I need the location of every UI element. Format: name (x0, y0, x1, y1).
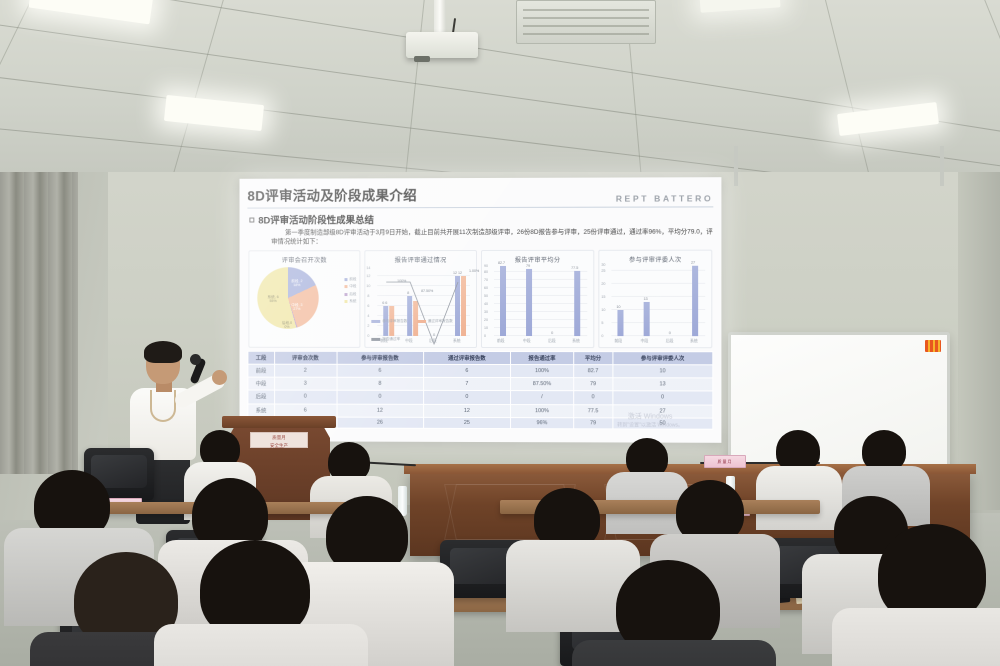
company-logo: REPT BATTERO (616, 193, 714, 203)
bar-avg-3 (574, 270, 580, 335)
x-tick: 前段 (614, 339, 622, 344)
legend-item-0: 前段 (344, 277, 356, 282)
col-header-5: 平均分 (574, 351, 613, 364)
y-tick: 5 (601, 321, 603, 325)
cell: 87.50% (510, 378, 573, 391)
x-tick: 后段 (666, 339, 674, 344)
chart-card-pie: 评审会召开次数 前段, 218% 中段, 327% 后段,00% 系统, 655… (248, 250, 360, 348)
title-divider (247, 206, 713, 208)
pie-slice-label-3: 系统, 655% (261, 295, 285, 304)
cell: 6 (337, 364, 424, 377)
presentation-slide: 8D评审活动及阶段成果介绍 REPT BATTERO 8D评审活动阶段性成果总结… (240, 177, 722, 443)
whiteboard (728, 332, 950, 480)
y-tick: 60 (484, 286, 488, 290)
bar-value-label: 82.7 (498, 261, 505, 265)
cell: 8 (337, 377, 424, 390)
cell: 77.5 (574, 404, 613, 417)
legend-entry-2: 报告通过率 (371, 337, 400, 342)
bar-value-label: 77.5 (571, 265, 578, 269)
y-tick: 0 (484, 334, 486, 338)
cell: 79 (574, 417, 613, 428)
x-tick: 系统 (690, 339, 698, 344)
cell: 3 (274, 377, 336, 390)
cell: 100% (510, 404, 573, 417)
col-header-1: 评审会次数 (274, 351, 336, 364)
presenter-hand (212, 370, 227, 385)
ceiling-air-vent (516, 0, 656, 44)
plot-area-avg-score: 0 10 20 30 40 50 60 70 80 90 82.7 (484, 263, 591, 344)
y-tick: 25 (601, 268, 605, 272)
chart-row: 评审会召开次数 前段, 218% 中段, 327% 后段,00% 系统, 655… (248, 249, 712, 348)
cell: 6 (423, 364, 510, 377)
cell: 25 (423, 417, 510, 428)
cell: 后段 (248, 390, 274, 403)
legend-item-2: 后段 (344, 292, 356, 297)
cell: 0 (423, 391, 510, 404)
table-row: 中段 3 8 7 87.50% 79 13 (248, 377, 713, 391)
y-tick: 30 (484, 310, 488, 314)
y-tick: 80 (484, 270, 488, 274)
y-tick: 90 (484, 264, 488, 268)
col-header-6: 参与评审评委人次 (612, 351, 712, 365)
cell: 中段 (248, 377, 274, 390)
bar-judges-3 (692, 265, 698, 335)
projection-screen: 8D评审活动及阶段成果介绍 REPT BATTERO 8D评审活动阶段性成果总结… (240, 177, 722, 443)
x-tick: 后段 (548, 339, 556, 344)
torso (756, 466, 842, 530)
cell: 82.7 (574, 365, 613, 378)
microphone-head-icon (190, 354, 201, 365)
slide-header: 8D评审活动及阶段成果介绍 REPT BATTERO (247, 183, 713, 204)
chart-card-judges: 参与评审评委人次 0 5 10 15 20 25 30 (598, 249, 712, 348)
y-tick: 50 (484, 294, 488, 298)
bar-value-label: 13 (644, 297, 648, 301)
legend-entry-1: 通过评审报告数 (417, 319, 453, 324)
podium-top (222, 416, 336, 428)
bar-value-label: 0 (551, 331, 553, 335)
bar-value-label: 10 (616, 305, 620, 309)
cell: 0 (337, 391, 424, 404)
torso (572, 640, 776, 666)
presenter-lanyard (150, 390, 176, 422)
chart-card-avg-score: 报告评审平均分 0 10 20 30 (481, 249, 594, 347)
torso (154, 624, 368, 666)
pie-legend: 前段 中段 后段 系统 (344, 277, 356, 307)
cell: 12 (423, 404, 510, 417)
x-tick: 中段 (523, 339, 531, 344)
table-header-row: 工段 评审会次数 参与评审报告数 通过评审报告数 报告通过率 平均分 参与评审评… (248, 351, 713, 365)
slide-body-text: 第一季度制造部级8D评审活动于3月9日开始，截止目前共开展11次制造部级评审，2… (271, 228, 713, 247)
cell: 6 (274, 404, 336, 417)
pie-slice-label-1: 中段, 327% (285, 303, 309, 312)
ceiling (0, 0, 1000, 172)
legend-item-3: 系统 (344, 299, 356, 304)
chart-card-pass-rate: 报告评审通过情况 0 2 4 6 8 10 (364, 250, 477, 348)
cell: 0 (274, 390, 336, 403)
y-tick: 70 (484, 278, 488, 282)
cell: 96% (510, 417, 573, 428)
whiteboard-leg (940, 146, 944, 186)
table-row: 后段 0 0 0 / 0 0 (248, 390, 713, 404)
bar-judges-1 (644, 302, 650, 336)
plot-area-judges: 0 5 10 15 20 25 30 10 13 0 27 (601, 263, 709, 344)
x-tick: 中段 (641, 339, 649, 344)
cell: 2 (274, 364, 336, 377)
cell: 0 (612, 391, 712, 404)
slide-title: 8D评审活动及阶段成果介绍 (247, 184, 417, 204)
cell: 7 (423, 378, 510, 391)
chart-legend-pass-rate: 参与评审报告数 通过评审报告数 报告通过率 (371, 310, 477, 346)
presenter-hair (144, 341, 182, 363)
bar-judges-0 (617, 310, 623, 336)
legend-entry-0: 参与评审报告数 (371, 319, 407, 324)
y-tick: 10 (601, 308, 605, 312)
chart-title-pie: 评审会召开次数 (251, 255, 357, 264)
cell: 100% (510, 364, 573, 377)
bar-value-label: 79 (526, 264, 530, 268)
whiteboard-sticker-icon (925, 340, 941, 352)
conference-room-scene: 8D评审活动及阶段成果介绍 REPT BATTERO 8D评审活动阶段性成果总结… (0, 0, 1000, 666)
table-row: 前段 2 6 6 100% 82.7 10 (248, 364, 713, 378)
cell: 前段 (248, 364, 274, 377)
legend-item-1: 中段 (344, 284, 356, 289)
bar-value-label: 0 (669, 331, 671, 335)
cell: 13 (612, 378, 712, 391)
podium-plate-line-1: 质量月 (251, 433, 307, 441)
name-card: 转到"设置"以激活 Windows。质量月 (704, 455, 746, 468)
cell: / (510, 391, 573, 404)
podium-plate-line-2: 安全生产 (251, 441, 307, 449)
cell: 79 (574, 378, 613, 391)
cell: 10 (612, 365, 712, 378)
ceiling-projector (406, 32, 478, 58)
y-tick: 10 (484, 326, 488, 330)
col-header-4: 报告通过率 (510, 351, 573, 364)
slide-bullet: 8D评审活动阶段性成果总结 (249, 211, 713, 226)
torso (832, 608, 1000, 666)
window-curtain (0, 134, 78, 474)
projector-lens (414, 56, 430, 62)
pie-slice-label-2: 后段,00% (277, 321, 297, 330)
cell: 27 (612, 404, 712, 418)
y-tick: 40 (484, 302, 488, 306)
podium-name-plate: 质量月 安全生产 (250, 432, 308, 448)
y-tick: 30 (601, 262, 605, 266)
bar-value-label: 27 (691, 260, 695, 264)
ceiling-tile-grid (0, 0, 1000, 172)
projector-mount-pole (434, 0, 446, 34)
x-tick: 前段 (497, 339, 505, 344)
cell: 12 (337, 404, 424, 417)
col-header-3: 通过评审报告数 (423, 351, 510, 364)
bar-avg-1 (526, 269, 532, 336)
bullet-square-icon (249, 217, 254, 222)
cell: 26 (337, 417, 424, 428)
whiteboard-leg (734, 146, 738, 186)
col-header-2: 参与评审报告数 (337, 351, 424, 364)
pie-slice-label-0: 前段, 218% (285, 279, 309, 288)
y-tick: 20 (484, 318, 488, 322)
cell: 系统 (248, 403, 274, 416)
slide-bullet-label: 8D评审活动阶段性成果总结 (258, 212, 374, 226)
col-header-0: 工段 (248, 351, 274, 364)
x-tick: 系统 (572, 339, 580, 344)
y-tick: 20 (601, 281, 605, 285)
chart-title-pass-rate: 报告评审通过情况 (367, 255, 474, 264)
right-wall-column (958, 140, 1000, 510)
y-tick: 0 (601, 334, 603, 338)
bar-avg-0 (500, 266, 506, 336)
y-tick: 15 (601, 295, 605, 299)
cell: 50 (612, 418, 712, 430)
cell: 0 (574, 391, 613, 404)
